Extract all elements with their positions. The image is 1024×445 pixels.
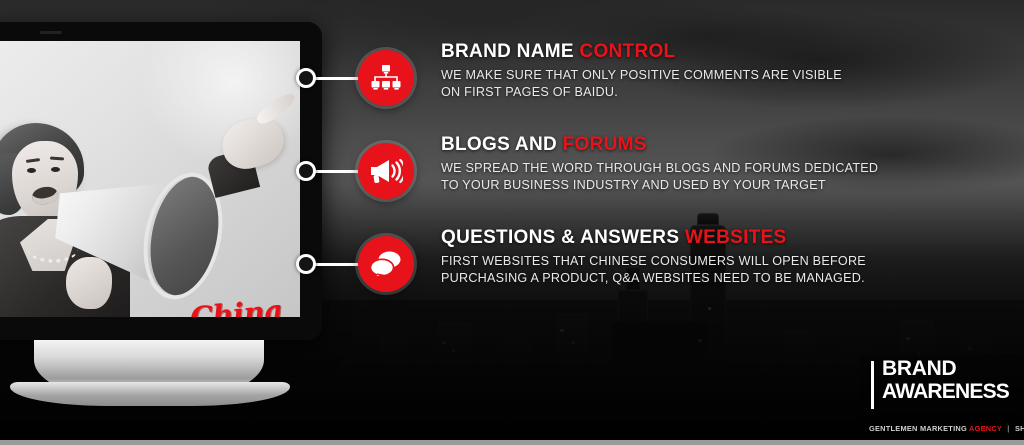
feature-1-body: WE MAKE SURE THAT ONLY POSITIVE COMMENTS… xyxy=(441,67,842,100)
agency-footer-accent: AGENCY xyxy=(969,424,1002,433)
feature-block-2: BLOGS AND FORUMS WE SPREAD THE WORD THRO… xyxy=(441,135,878,193)
screen-photo: China is DIGITAL xyxy=(0,41,300,317)
pointing-finger xyxy=(254,90,298,128)
megaphone-icon xyxy=(369,157,403,185)
feature-1-body-line1: WE MAKE SURE THAT ONLY POSITIVE COMMENTS… xyxy=(441,67,842,84)
brand-accent-bar xyxy=(871,361,874,409)
logo-brand-text: China xyxy=(189,293,284,317)
feature-2-body-line2: TO YOUR BUSINESS INDUSTRY AND USED BY YO… xyxy=(441,177,878,194)
feature-block-3: QUESTIONS & ANSWERS WEBSITES FIRST WEBSI… xyxy=(441,228,866,286)
feature-3-title-main: QUESTIONS & ANSWERS xyxy=(441,227,679,248)
feature-2-body-line1: WE SPREAD THE WORD THROUGH BLOGS AND FOR… xyxy=(441,160,878,177)
connector-dot-2 xyxy=(296,161,316,181)
china-is-digital-logo: China is DIGITAL xyxy=(190,297,290,317)
agency-footer-pre: GENTLEMEN MARKETING xyxy=(869,424,967,433)
feature-1-title-accent: CONTROL xyxy=(579,41,675,62)
sitemap-icon-circle[interactable] xyxy=(358,50,414,106)
feature-1-title-main: BRAND NAME xyxy=(441,41,574,62)
feature-block-1: BRAND NAME CONTROL WE MAKE SURE THAT ONL… xyxy=(441,42,842,100)
bottom-strip xyxy=(0,440,1024,445)
feature-1-body-line2: ON FIRST PAGES OF BAIDU. xyxy=(441,84,842,101)
connector-line-3 xyxy=(314,263,362,266)
brand-awareness-plate: BRAND AWARENESS GENTLEMEN MARKETING AGEN… xyxy=(860,355,1024,440)
monitor: China is DIGITAL xyxy=(0,22,322,340)
agency-footer-separator: | xyxy=(1004,424,1012,433)
megaphone-icon-circle[interactable] xyxy=(358,143,414,199)
feature-2-title: BLOGS AND FORUMS xyxy=(441,135,878,155)
connector-line-2 xyxy=(314,170,362,173)
feature-2-title-main: BLOGS AND xyxy=(441,134,557,155)
connector-dot-3 xyxy=(296,254,316,274)
feature-3-body-line2: PURCHASING A PRODUCT, Q&A WEBSITES NEED … xyxy=(441,270,866,287)
speech-bubbles-icon-circle[interactable] xyxy=(358,236,414,292)
brand-title-line2: AWARENESS xyxy=(882,381,1009,404)
brand-title-line1: BRAND xyxy=(882,357,956,380)
brand-awareness-title: BRAND AWARENESS xyxy=(882,358,1009,403)
monitor-screen: China is DIGITAL xyxy=(0,41,300,317)
poster-canvas: China is DIGITAL xyxy=(0,0,1024,445)
monitor-stand-base xyxy=(10,382,290,406)
connector-dot-1 xyxy=(296,68,316,88)
sitemap-icon xyxy=(371,64,401,92)
feature-3-body-line1: FIRST WEBSITES THAT CHINESE CONSUMERS WI… xyxy=(441,253,866,270)
feature-2-title-accent: FORUMS xyxy=(563,134,647,155)
feature-1-title: BRAND NAME CONTROL xyxy=(441,42,842,62)
agency-footer: GENTLEMEN MARKETING AGENCY | SHANGHAI xyxy=(869,424,1024,433)
feature-3-title-accent: WEBSITES xyxy=(685,227,787,248)
woman-hand xyxy=(66,257,112,309)
feature-3-body: FIRST WEBSITES THAT CHINESE CONSUMERS WI… xyxy=(441,253,866,286)
webcam-icon xyxy=(40,31,62,34)
feature-2-body: WE SPREAD THE WORD THROUGH BLOGS AND FOR… xyxy=(441,160,878,193)
connector-line-1 xyxy=(314,77,362,80)
agency-footer-city: SHANGHAI xyxy=(1015,424,1024,433)
feature-3-title: QUESTIONS & ANSWERS WEBSITES xyxy=(441,228,866,248)
speech-bubbles-icon xyxy=(370,250,402,278)
